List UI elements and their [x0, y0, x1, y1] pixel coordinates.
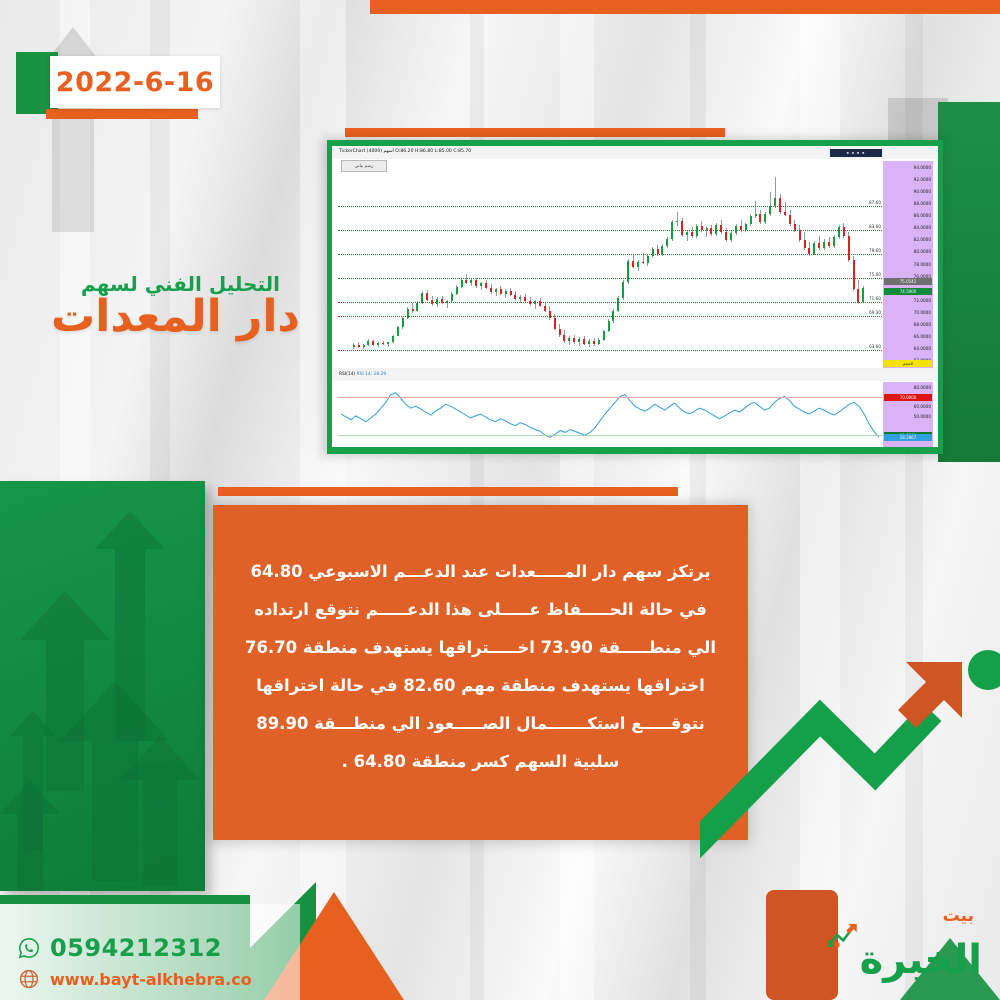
- candle-body: [862, 288, 864, 302]
- candle-body: [774, 198, 776, 206]
- arrow-stem: [17, 814, 42, 891]
- candle-body: [725, 232, 727, 240]
- candlestick: [637, 260, 639, 271]
- candlestick: [818, 236, 820, 250]
- rsi-pane: RSI(14) RSI 14: 28.29 80.000060.000050.0…: [332, 370, 938, 447]
- candlestick: [363, 344, 365, 349]
- arrow-head: [10, 711, 56, 736]
- candle-body: [573, 338, 575, 343]
- candlestick: [848, 232, 850, 262]
- chart-frame: TickerChart أسهم (4000) O:86.20 H:86.80 …: [327, 140, 943, 454]
- candlestick: [828, 237, 830, 248]
- decorative-up-arrow-icon: [0, 781, 60, 891]
- candlestick: [563, 330, 565, 343]
- whatsapp-icon: [18, 937, 40, 959]
- price-axis: 94.000092.000090.000088.000086.000084.00…: [883, 161, 933, 368]
- candle-body: [769, 206, 771, 214]
- candle-body: [461, 280, 463, 287]
- rsi-overbought-tag: 70.0000: [884, 394, 932, 401]
- rsi-overbought-line: [338, 397, 882, 398]
- candle-body: [647, 256, 649, 263]
- candle-body: [813, 243, 815, 254]
- candle-body: [392, 336, 394, 343]
- candle-body: [563, 335, 565, 341]
- date-badge: 2022-6-16: [50, 56, 220, 108]
- candle-wick: [677, 212, 678, 226]
- analysis-text-box: يرتكز سهم دار المـــــعدات عند الدعـــم …: [213, 505, 748, 840]
- date-text: 2022-6-16: [56, 67, 214, 98]
- candle-body: [583, 339, 585, 343]
- analysis-line: نتوقـــــع استكـــــــمال الصـــــعود ال…: [241, 705, 720, 743]
- candle-body: [412, 309, 414, 311]
- level-label: 71.60: [868, 296, 881, 301]
- candlestick: [666, 237, 668, 248]
- rsi-axis-tick: 60.0000: [914, 404, 931, 409]
- analysis-line: يرتكز سهم دار المـــــعدات عند الدعـــم …: [241, 553, 720, 591]
- price-axis-tick: 78.0000: [914, 262, 931, 267]
- candlestick: [583, 336, 585, 345]
- candle-body: [451, 294, 453, 301]
- footer-contact: 0594212312 www.bayt-alkhebra.co: [18, 934, 288, 990]
- candlestick: [622, 280, 624, 299]
- contact-website-row[interactable]: www.bayt-alkhebra.co: [18, 968, 288, 990]
- candle-body: [755, 214, 757, 216]
- candlestick: [367, 339, 369, 346]
- candlestick: [784, 202, 786, 216]
- price-axis-tick: 82.0000: [914, 237, 931, 242]
- candlestick: [485, 280, 487, 288]
- candlestick: [627, 259, 629, 284]
- price-plot-area: 87.6083.6079.6075.6071.6069.3063.60: [338, 161, 882, 366]
- candlestick: [608, 319, 610, 332]
- candlestick: [764, 212, 766, 224]
- candlestick: [451, 292, 453, 302]
- price-axis-tick: 68.0000: [914, 322, 931, 327]
- price-axis-tick: 88.0000: [914, 201, 931, 206]
- website-url: www.bayt-alkhebra.co: [50, 970, 252, 989]
- candle-body: [402, 318, 404, 328]
- candle-body: [495, 289, 497, 293]
- candle-body: [544, 306, 546, 311]
- candle-body: [632, 261, 634, 266]
- candlestick: [549, 306, 551, 320]
- candle-body: [696, 226, 698, 236]
- price-axis-tick: 80.0000: [914, 249, 931, 254]
- candle-body: [426, 293, 428, 300]
- candlestick: [475, 278, 477, 288]
- arrow-head: [60, 681, 170, 741]
- candle-body: [549, 311, 551, 319]
- analysis-line: في حالة الحـــــفاظ عـــــلى هذا الدعـــ…: [241, 591, 720, 629]
- logo-main-word: الخبرة: [860, 940, 982, 980]
- candlestick: [465, 274, 467, 284]
- candle-body: [456, 287, 458, 294]
- contact-phone-row[interactable]: 0594212312: [18, 934, 288, 962]
- candlestick: [632, 254, 634, 268]
- top-accent-bar: [370, 0, 1000, 14]
- candle-body: [627, 261, 629, 282]
- arrow-head: [0, 781, 60, 814]
- candle-body: [828, 242, 830, 246]
- price-pane: TickerChart أسهم (4000) O:86.20 H:86.80 …: [332, 146, 938, 368]
- candle-body: [686, 232, 688, 235]
- candle-body: [622, 282, 624, 298]
- candle-body: [470, 280, 472, 282]
- candlestick: [559, 324, 561, 337]
- candlestick: [676, 212, 678, 226]
- candle-body: [608, 321, 610, 331]
- candle-body: [637, 262, 639, 266]
- logo-top-word: بيت: [943, 908, 974, 925]
- candle-body: [367, 341, 369, 345]
- candle-body: [480, 283, 482, 285]
- analysis-text: يرتكز سهم دار المـــــعدات عند الدعـــم …: [213, 505, 748, 781]
- chart-accent-rule: [345, 128, 725, 137]
- rsi-label: RSI(14): [339, 372, 355, 377]
- support-resistance-line: 87.60: [338, 206, 882, 207]
- level-label: 75.60: [868, 272, 881, 277]
- candlestick: [412, 303, 414, 313]
- candlestick: [779, 194, 781, 215]
- level-label: 83.60: [868, 224, 881, 229]
- candlestick: [799, 225, 801, 242]
- candle-body: [578, 339, 580, 342]
- candle-body: [519, 297, 521, 299]
- candlestick: [804, 232, 806, 250]
- candlestick: [358, 342, 360, 347]
- support-resistance-line: 69.30: [338, 316, 882, 317]
- candle-body: [588, 341, 590, 343]
- decorative-up-arrow-icon: [120, 736, 200, 886]
- phone-number: 0594212312: [50, 934, 222, 962]
- candlestick: [392, 335, 394, 343]
- rsi-axis: 80.000060.000050.000070.000030.000028.28…: [883, 382, 933, 447]
- candle-body: [358, 345, 360, 346]
- candle-body: [598, 340, 600, 344]
- price-axis-tick: 72.0000: [914, 298, 931, 303]
- level-label: 63.60: [868, 344, 881, 349]
- candle-body: [804, 240, 806, 248]
- candlestick: [681, 218, 683, 237]
- volume-axis-tag: الحجم: [884, 360, 932, 367]
- candle-body: [759, 214, 761, 222]
- candlestick: [407, 307, 409, 319]
- rsi-value: RSI 14: 28.29: [357, 372, 387, 377]
- candlestick: [353, 343, 355, 348]
- chart-toolbar-chip[interactable]: ■ ■ ■ ■: [830, 149, 882, 157]
- candle-body: [397, 327, 399, 335]
- decorative-arrow-panel: [0, 481, 205, 891]
- body-accent-rule: [218, 487, 678, 496]
- candle-body: [559, 329, 561, 336]
- chart-screenshot: TickerChart أسهم (4000) O:86.20 H:86.80 …: [332, 146, 938, 447]
- rsi-axis-tick: 80.0000: [914, 385, 931, 390]
- decorative-green-block: [938, 102, 1000, 462]
- candlestick: [382, 341, 384, 346]
- candle-body: [490, 288, 492, 293]
- candlestick: [372, 340, 374, 346]
- price-axis-tick: 64.0000: [914, 346, 931, 351]
- candlestick: [480, 282, 482, 290]
- support-resistance-line: 83.60: [338, 230, 882, 231]
- candle-body: [387, 342, 389, 344]
- candlestick: [603, 330, 605, 341]
- candle-body: [514, 295, 516, 299]
- candle-body: [382, 343, 384, 344]
- candlestick: [534, 300, 536, 309]
- level-label: 87.60: [868, 200, 881, 205]
- candle-body: [652, 249, 654, 256]
- level-label: 69.30: [868, 310, 881, 315]
- candlestick: [750, 214, 752, 226]
- candlestick: [402, 317, 404, 329]
- candle-body: [833, 237, 835, 246]
- candle-body: [691, 232, 693, 236]
- candlestick: [505, 289, 507, 299]
- candle-body: [853, 260, 855, 289]
- level-label: 79.60: [868, 248, 881, 253]
- arrow-head: [95, 511, 165, 549]
- candlestick: [387, 342, 389, 347]
- poster-root: 2022-6-16 TickerChart أسهم (4000) O:86.2…: [0, 0, 1000, 1000]
- candle-body: [750, 216, 752, 224]
- candle-body: [823, 242, 825, 248]
- rsi-oversold-line: [338, 435, 882, 436]
- price-axis-tick: 92.0000: [914, 177, 931, 182]
- price-axis-tick: 94.0000: [914, 165, 931, 170]
- candlestick: [397, 326, 399, 336]
- candle-body: [818, 243, 820, 248]
- price-axis-tick: 84.0000: [914, 225, 931, 230]
- candlestick: [853, 256, 855, 291]
- date-badge-underline: [46, 109, 198, 119]
- candle-body: [500, 289, 502, 294]
- growth-arrow-icon: [700, 600, 1000, 900]
- candlestick: [426, 290, 428, 301]
- candlestick: [470, 278, 472, 286]
- candle-body: [485, 283, 487, 287]
- page-title: دار المعدات: [51, 291, 300, 342]
- candlestick: [495, 288, 497, 296]
- rsi-current-tag: 28.2867: [884, 434, 932, 441]
- candlestick: [833, 235, 835, 248]
- price-axis-tick: 66.0000: [914, 334, 931, 339]
- rsi-pane-header: RSI(14) RSI 14: 28.29: [332, 370, 938, 381]
- candle-body: [617, 298, 619, 311]
- candlestick: [441, 296, 443, 304]
- candlestick: [578, 337, 580, 346]
- candle-body: [764, 214, 766, 222]
- candle-body: [593, 341, 595, 344]
- candlestick: [593, 338, 595, 346]
- candle-body: [799, 230, 801, 240]
- candle-body: [568, 338, 570, 342]
- candle-body: [416, 303, 418, 311]
- brand-logo[interactable]: بيت الخبرة: [826, 904, 986, 986]
- crosshair-price-tag: 75.0542: [884, 278, 932, 285]
- rsi-axis-tick: 50.0000: [914, 414, 931, 419]
- candle-body: [857, 289, 859, 302]
- candlestick: [706, 226, 708, 237]
- globe-icon: [18, 968, 40, 990]
- candlestick: [573, 335, 575, 345]
- candlestick: [456, 285, 458, 295]
- candlestick: [838, 225, 840, 239]
- candlestick: [789, 210, 791, 226]
- support-resistance-line: 63.60: [338, 350, 882, 351]
- candle-body: [465, 280, 467, 283]
- candlestick: [510, 288, 512, 296]
- candle-body: [843, 227, 845, 236]
- analysis-line: اختراقها يستهدف منطقة مهم 82.60 في حالة …: [241, 667, 720, 705]
- candle-body: [372, 341, 374, 345]
- candlestick: [823, 239, 825, 250]
- candle-body: [676, 221, 678, 222]
- support-resistance-line: 79.60: [338, 254, 882, 255]
- candlestick: [696, 224, 698, 238]
- candle-body: [720, 225, 722, 232]
- candlestick: [544, 302, 546, 312]
- candle-body: [377, 343, 379, 345]
- candle-body: [505, 291, 507, 294]
- last-close-tag: 74.5000: [884, 288, 932, 295]
- candle-body: [784, 212, 786, 215]
- candlestick: [514, 291, 516, 300]
- price-axis-tick: 90.0000: [914, 189, 931, 194]
- candle-body: [363, 345, 365, 347]
- candlestick: [862, 286, 864, 303]
- candlestick: [647, 254, 649, 266]
- support-resistance-line: 75.60: [338, 278, 882, 279]
- candle-body: [848, 236, 850, 260]
- candle-body: [681, 221, 683, 235]
- candlestick: [500, 286, 502, 294]
- candle-body: [789, 215, 791, 224]
- candlestick: [461, 278, 463, 288]
- candlestick: [490, 284, 492, 294]
- candlestick: [568, 336, 570, 345]
- candlestick: [652, 247, 654, 258]
- arrow-stem: [143, 780, 177, 886]
- arrow-head: [120, 736, 200, 780]
- candlestick: [588, 339, 590, 346]
- candle-body: [603, 331, 605, 340]
- candle-body: [642, 262, 644, 263]
- candlestick: [774, 177, 776, 208]
- candlestick: [377, 342, 379, 347]
- candle-body: [666, 239, 668, 246]
- candlestick: [730, 231, 732, 242]
- candlestick: [686, 230, 688, 241]
- support-resistance-line: 71.60: [338, 302, 882, 303]
- candlestick: [857, 280, 859, 304]
- candle-body: [524, 297, 526, 301]
- candlestick: [598, 338, 600, 345]
- candlestick: [446, 300, 448, 308]
- candle-body: [730, 233, 732, 240]
- candlestick: [755, 201, 757, 218]
- rsi-plot-area: [338, 382, 882, 445]
- candle-body: [475, 280, 477, 285]
- analysis-line: الي منطـــــقة 73.90 اخـــــتراقها يستهد…: [241, 629, 720, 667]
- candlestick: [720, 220, 722, 234]
- candle-body: [510, 291, 512, 295]
- analysis-line: سلبية السهم كسر منطقة 64.80 .: [241, 743, 720, 781]
- candle-body: [554, 318, 556, 328]
- candlestick: [759, 210, 761, 224]
- candlestick: [617, 296, 619, 312]
- price-axis-tick: 86.0000: [914, 213, 931, 218]
- candlestick: [769, 192, 771, 216]
- price-axis-tick: 70.0000: [914, 310, 931, 315]
- candle-body: [353, 345, 355, 346]
